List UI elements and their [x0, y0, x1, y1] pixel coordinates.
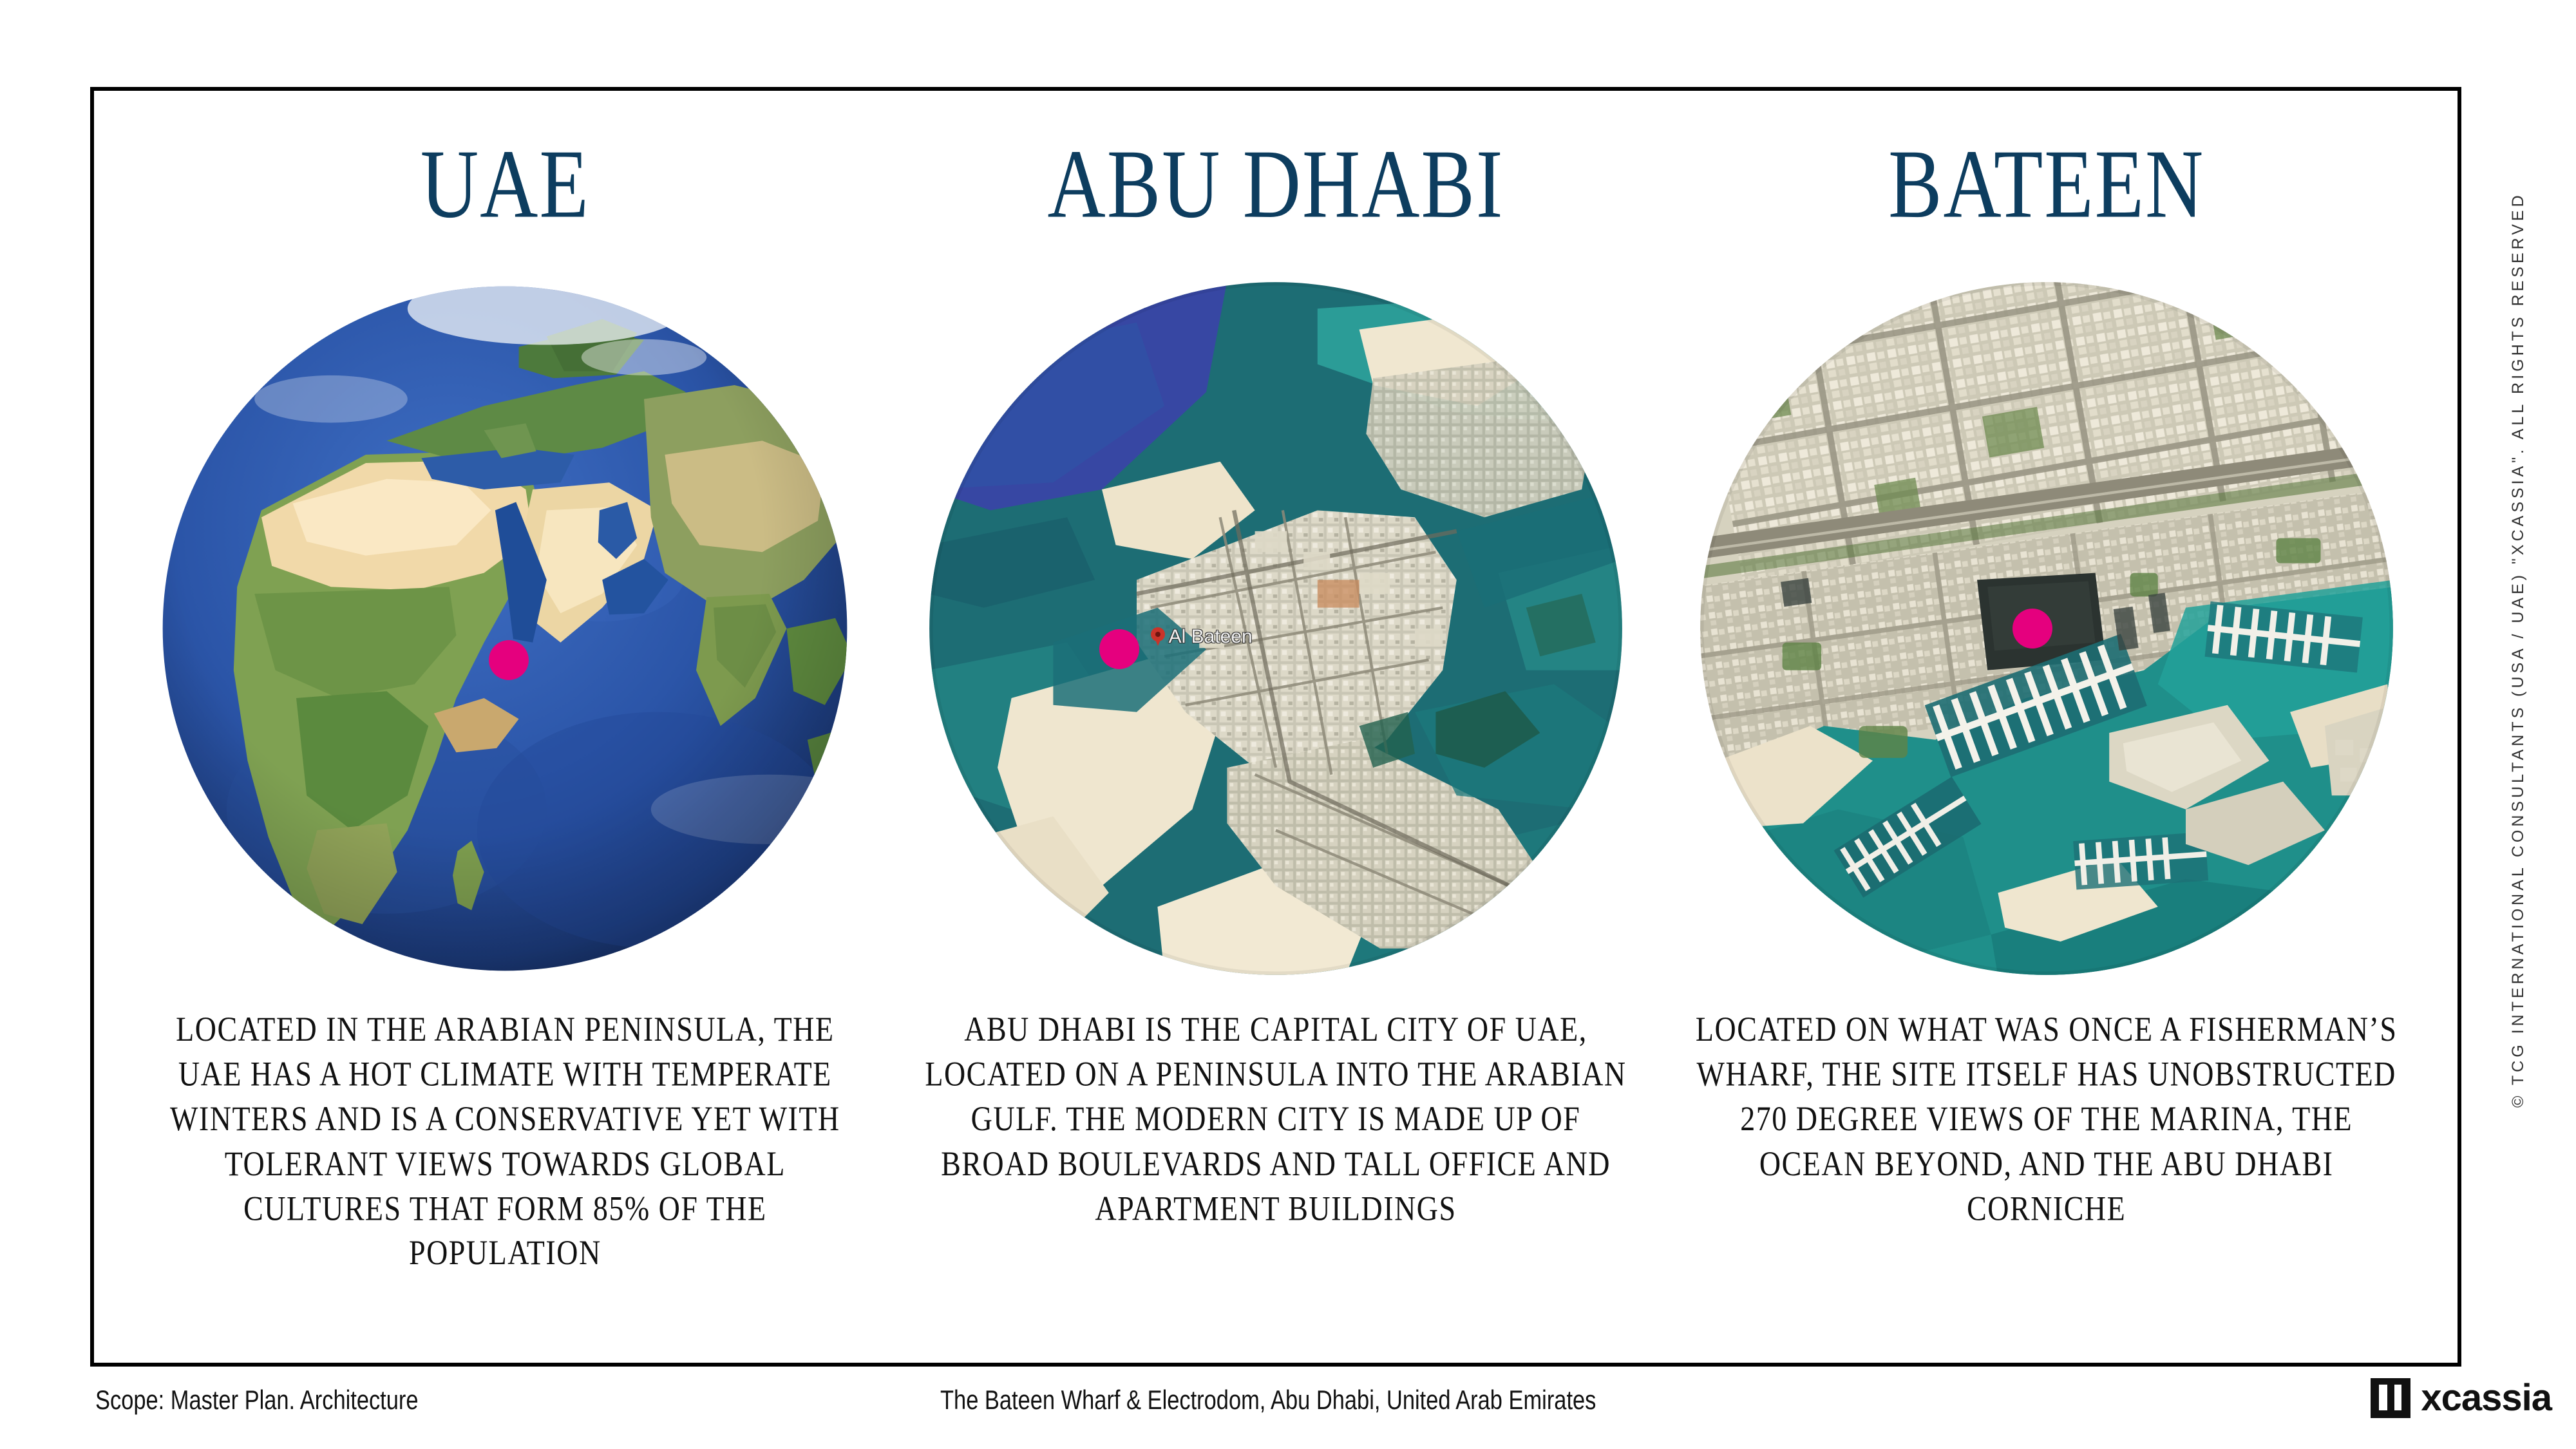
panel-caption-abu-dhabi: ABU DHABI IS THE CAPITAL CITY OF UAE, LO…	[915, 1007, 1636, 1231]
slide-frame: UAE	[90, 87, 2461, 1367]
panel-caption-uae: LOCATED IN THE ARABIAN PENINSULA, THE UA…	[144, 1007, 866, 1276]
map-label-text: Al Bateen	[1169, 626, 1253, 648]
globe-graphic	[157, 281, 853, 976]
panel-caption-bateen: LOCATED ON WHAT WAS ONCE A FISHERMAN’S W…	[1686, 1007, 2407, 1231]
map-pin-icon	[1151, 627, 1165, 647]
panel-uae: UAE	[120, 91, 891, 1363]
panel-title-uae: UAE	[421, 136, 590, 254]
footer-project-text: The Bateen Wharf & Electrodom, Abu Dhabi…	[940, 1385, 1596, 1416]
copyright-text: © TCG INTERNATIONAL CONSULTANTS (USA / U…	[2509, 192, 2528, 1108]
footer-bar: Scope: Master Plan. Architecture The Bat…	[90, 1376, 2552, 1434]
map-label-al-bateen: Al Bateen	[1151, 626, 1253, 648]
xcassia-square-mark-icon	[2371, 1378, 2410, 1418]
aerial-image-bateen	[1699, 281, 2394, 976]
panel-title-abu-dhabi: ABU DHABI	[1048, 136, 1504, 254]
abu-dhabi-satellite-graphic	[928, 281, 1624, 976]
panel-title-bateen: BATEEN	[1888, 136, 2204, 254]
bateen-site-marker	[2012, 609, 2052, 649]
xcassia-wordmark: xcassia	[2421, 1379, 2552, 1417]
panel-bateen: BATEEN	[1661, 91, 2432, 1363]
copyright-notice: © TCG INTERNATIONAL CONSULTANTS (USA / U…	[2509, 348, 2539, 1108]
abu-dhabi-location-marker	[1099, 629, 1139, 669]
satellite-image-abu-dhabi: Al Bateen	[928, 281, 1624, 976]
uae-location-marker	[489, 640, 529, 680]
xcassia-logo: xcassia	[2371, 1378, 2552, 1418]
globe-image-uae	[157, 281, 853, 976]
panel-abu-dhabi: ABU DHABI	[891, 91, 1662, 1363]
panels-container: UAE	[94, 91, 2458, 1363]
footer-scope-text: Scope: Master Plan. Architecture	[95, 1385, 419, 1416]
